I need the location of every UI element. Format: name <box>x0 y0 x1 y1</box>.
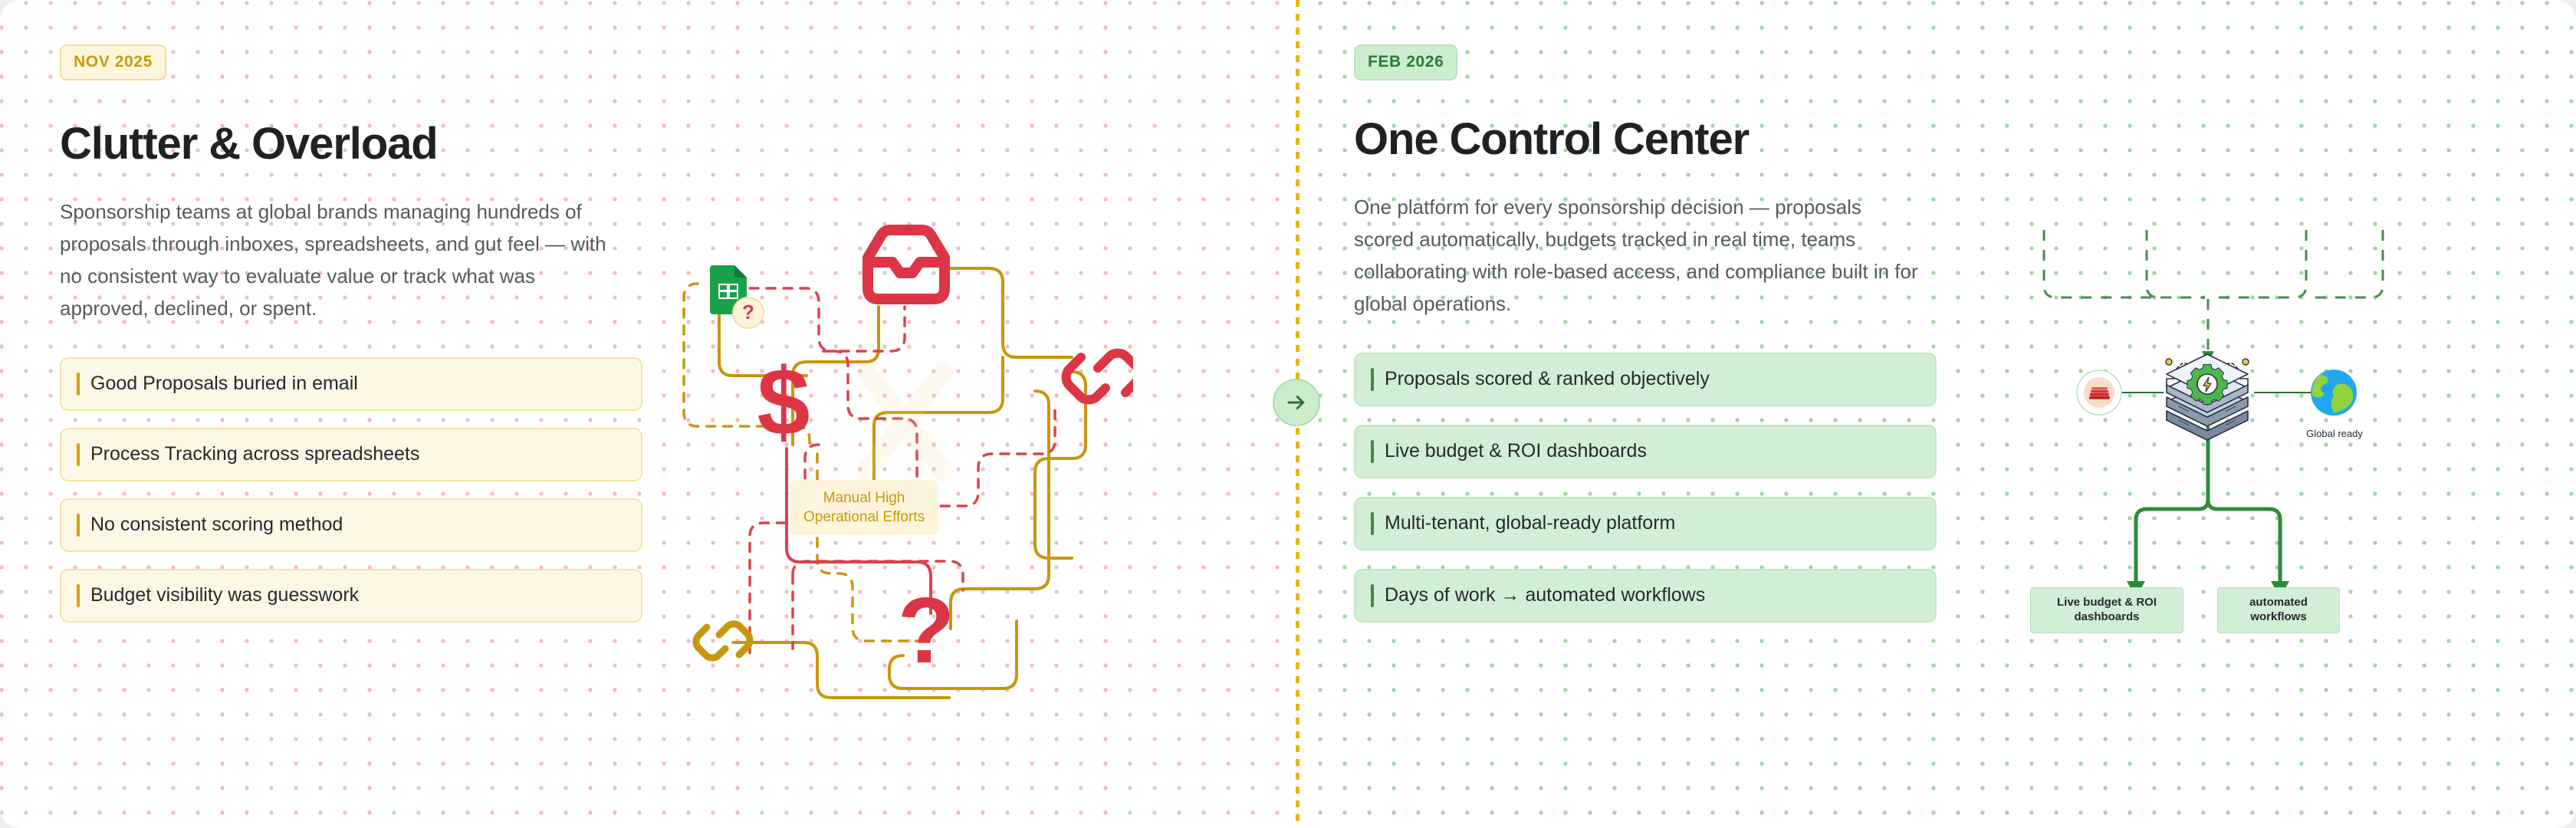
flow-box-dashboards-line1: Live budget & ROI <box>2036 596 2178 610</box>
dashed-branch-3 <box>2210 230 2306 297</box>
x-watermark <box>866 372 943 472</box>
control-center-illustration: Global ready Live budget & ROI dashboard… <box>2001 215 2415 713</box>
list-item-label: Live budget & ROI dashboards <box>1385 440 1647 462</box>
clutter-spaghetti-diagram: ? $ ? <box>642 215 1133 721</box>
lede-left: Sponsorship teams at global brands manag… <box>60 196 627 324</box>
list-item-label: Days of work → automated workflows <box>1385 584 1705 606</box>
list-item-label: Proposals scored & ranked objectively <box>1385 368 1710 390</box>
manual-effort-chip: Manual High Operational Efforts <box>790 480 938 535</box>
dollar-sign-icon: $ <box>757 350 810 455</box>
flow-box-dashboards: Live budget & ROI dashboards <box>2030 587 2183 633</box>
lede-right: One platform for every sponsorship decis… <box>1354 192 1921 320</box>
list-item-label: Budget visibility was guesswork <box>90 584 359 606</box>
list-item-label: No consistent scoring method <box>90 514 343 536</box>
question-mark-icon: ? <box>898 578 955 682</box>
inbox-icon <box>868 230 945 299</box>
badge-feb-2026: FEB 2026 <box>1354 44 1457 80</box>
flow-box-workflows-line1: automated <box>2223 596 2334 610</box>
list-item[interactable]: Live budget & ROI dashboards <box>1354 425 1937 478</box>
clutter-illustration: ? $ ? <box>642 215 1133 721</box>
documents-node-icon <box>2077 370 2121 415</box>
dashed-branch-4 <box>2311 230 2383 297</box>
control-center-flow-diagram <box>2001 215 2415 713</box>
globe-icon <box>2311 370 2357 416</box>
split-left <box>2136 428 2208 581</box>
page-title-left: Clutter & Overload <box>60 120 642 167</box>
list-item[interactable]: Multi-tenant, global-ready platform <box>1354 497 1937 550</box>
flow-box-dashboards-line2: dashboards <box>2036 610 2178 625</box>
badge-nov-2025: NOV 2025 <box>60 44 166 80</box>
problem-chip-list: Good Proposals buried in email Process T… <box>60 357 642 623</box>
list-item[interactable]: No consistent scoring method <box>60 498 642 552</box>
list-item-label: Process Tracking across spreadsheets <box>90 443 419 465</box>
advance-arrow-button[interactable] <box>1273 379 1320 426</box>
problem-content: NOV 2025 Clutter & Overload Sponsorship … <box>60 44 642 639</box>
flow-box-workflows: automated workflows <box>2217 587 2340 633</box>
dashed-branch-2 <box>2147 230 2159 297</box>
broken-link-icon-top <box>1066 353 1133 400</box>
list-item-label: Multi-tenant, global-ready platform <box>1385 512 1675 534</box>
list-item[interactable]: Good Proposals buried in email <box>60 357 642 411</box>
solution-chip-list: Proposals scored & ranked objectively Li… <box>1354 353 1937 623</box>
svg-text:?: ? <box>742 301 754 324</box>
manual-effort-line2: Operational Efforts <box>803 508 925 527</box>
list-item[interactable]: Process Tracking across spreadsheets <box>60 428 642 481</box>
dashed-branch-1 <box>2044 230 2205 297</box>
arrow-right-icon <box>1285 391 1308 414</box>
split-right <box>2208 500 2280 581</box>
page-title-right: One Control Center <box>1354 116 1937 163</box>
list-item[interactable]: Days of work → automated workflows <box>1354 569 1937 623</box>
list-item[interactable]: Proposals scored & ranked objectively <box>1354 353 1937 406</box>
svg-text:?: ? <box>898 578 955 682</box>
question-badge-icon: ? <box>733 297 764 328</box>
globe-label: Global ready <box>2305 428 2364 439</box>
manual-effort-line1: Manual High <box>803 488 925 508</box>
slide-canvas: ? $ ? <box>0 0 2576 828</box>
svg-text:$: $ <box>757 350 810 455</box>
list-item-label: Good Proposals buried in email <box>90 373 358 395</box>
flow-box-workflows-line2: workflows <box>2223 610 2334 625</box>
list-item[interactable]: Budget visibility was guesswork <box>60 569 642 623</box>
solution-content: FEB 2026 One Control Center One platform… <box>1354 44 1937 641</box>
